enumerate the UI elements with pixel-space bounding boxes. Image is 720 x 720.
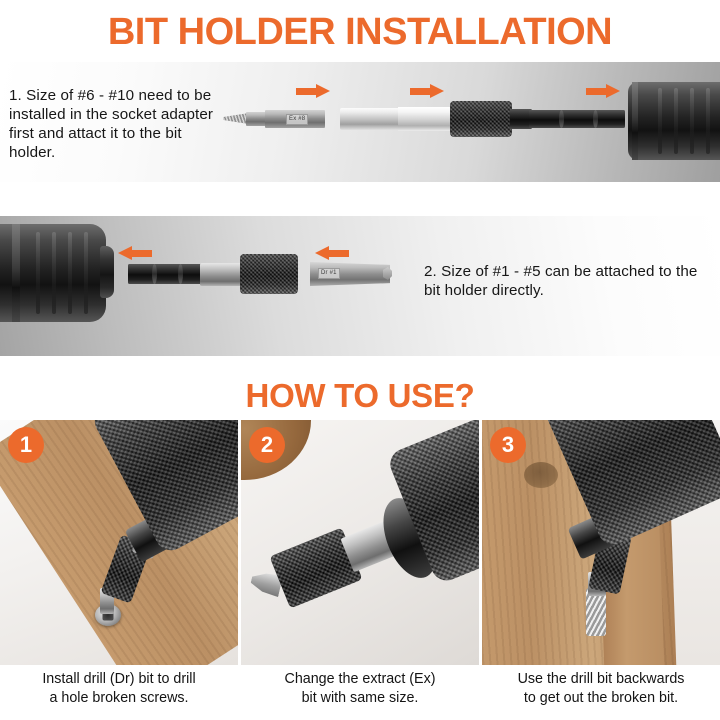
howto-caption-3: Use the drill bit backwards to get out t… xyxy=(482,668,720,720)
howto-title-text: HOW TO USE? xyxy=(246,377,475,414)
install-step-1-text: 1. Size of #6 - #10 need to be installed… xyxy=(9,86,224,162)
howto-photo-3: 3 xyxy=(482,420,720,665)
driver-bit-label: Dr #1 xyxy=(318,268,340,279)
arrow-left-icon xyxy=(315,246,349,261)
howto-photo-2: 2 xyxy=(241,420,479,665)
step-badge-2: 2 xyxy=(249,427,285,463)
install-step-1-panel: 1. Size of #6 - #10 need to be installed… xyxy=(0,62,720,182)
drilled-hole xyxy=(524,462,558,488)
howto-title: HOW TO USE? xyxy=(0,375,720,417)
install-step-2-text: 2. Size of #1 - #5 can be attached to th… xyxy=(424,262,716,300)
arrow-right-icon xyxy=(410,84,444,99)
install-step-2-panel: 2. Size of #1 - #5 can be attached to th… xyxy=(0,216,720,356)
arrow-right-icon xyxy=(296,84,330,99)
howto-caption-1: Install drill (Dr) bit to drill a hole b… xyxy=(0,668,238,720)
step-badge-1: 1 xyxy=(8,427,44,463)
arrow-left-icon xyxy=(118,246,152,261)
howto-photo-1: 1 xyxy=(0,420,238,665)
infographic-page: BIT HOLDER INSTALLATION 1. Size of #6 - … xyxy=(0,0,720,720)
step-badge-3: 3 xyxy=(490,427,526,463)
howto-caption-2: Change the extract (Ex) bit with same si… xyxy=(241,668,479,720)
howto-caption-row: Install drill (Dr) bit to drill a hole b… xyxy=(0,668,720,720)
main-title: BIT HOLDER INSTALLATION xyxy=(0,6,720,58)
extractor-bit-label: Ex #8 xyxy=(286,114,308,125)
arrow-right-icon xyxy=(586,84,620,99)
howto-photo-row: 1 2 3 xyxy=(0,420,720,665)
main-title-text: BIT HOLDER INSTALLATION xyxy=(108,11,612,53)
